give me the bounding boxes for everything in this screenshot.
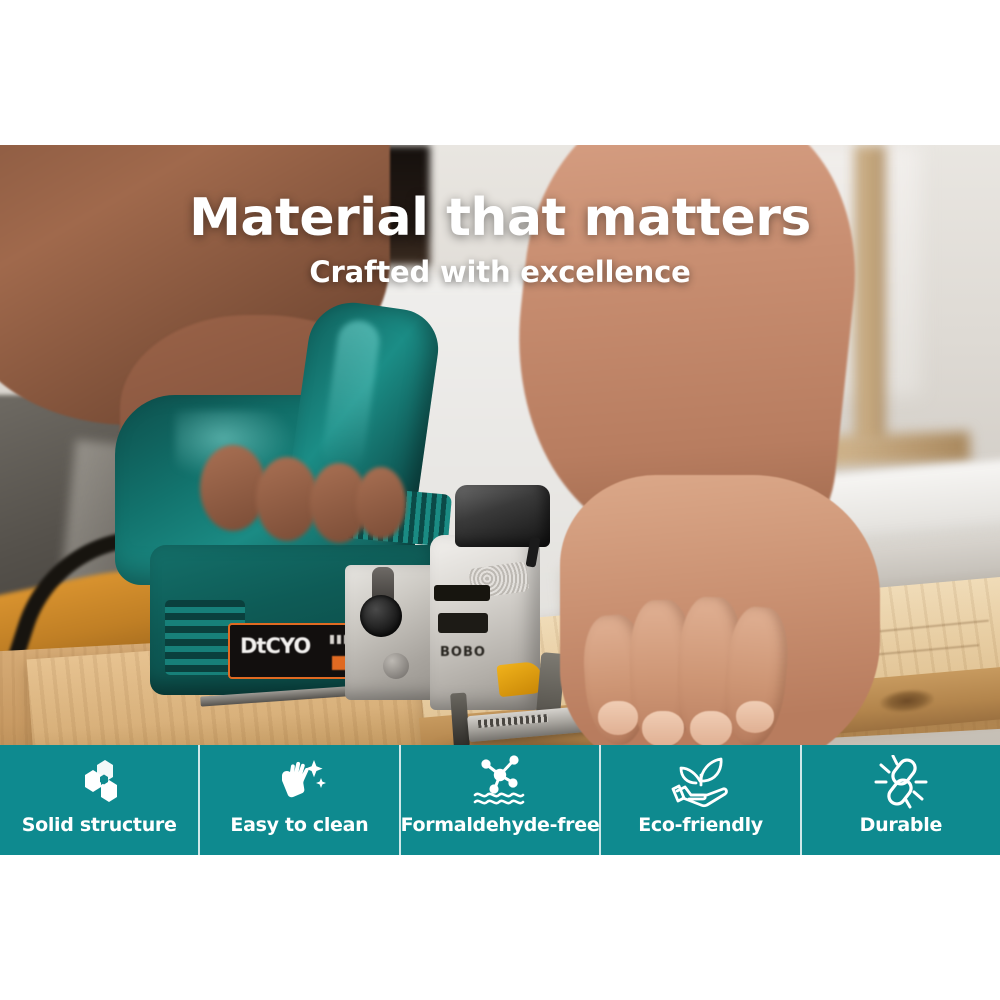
- feature-tile-durable[interactable]: Durable: [800, 745, 1000, 855]
- feature-tile-formaldehyde-free[interactable]: Formaldehyde-free: [399, 745, 600, 855]
- feature-label: Solid structure: [22, 814, 177, 836]
- feature-label: Durable: [860, 814, 942, 836]
- feature-tile-easy-to-clean[interactable]: Easy to clean: [198, 745, 398, 855]
- feature-label: Eco-friendly: [638, 814, 763, 836]
- hero-subheadline: Crafted with excellence: [0, 255, 1000, 289]
- hand-leaf-icon: [601, 754, 799, 810]
- knuckle: [256, 457, 318, 541]
- product-banner: DtCYO BOBO Mat: [0, 0, 1000, 1000]
- jigsaw-marking: BOBO: [440, 645, 488, 659]
- knuckle: [356, 467, 406, 539]
- feature-label: Formaldehyde-free: [401, 814, 600, 836]
- fingernail: [736, 701, 774, 733]
- jigsaw-slot: [438, 613, 488, 633]
- jigsaw-brand-text: DtCYO: [240, 634, 310, 658]
- fingernail: [690, 711, 732, 745]
- molecule-waves-icon: [401, 754, 600, 810]
- fingernail: [598, 701, 638, 735]
- background-wood-post: [855, 145, 885, 445]
- jigsaw-blade-guard: [496, 661, 543, 697]
- jigsaw-dial: [360, 595, 402, 637]
- feature-tile-eco-friendly[interactable]: Eco-friendly: [599, 745, 799, 855]
- jigsaw-knob: [383, 653, 409, 679]
- feature-label: Easy to clean: [230, 814, 368, 836]
- hero-headline: Material that matters: [0, 192, 1000, 244]
- feature-bar: Solid structure Easy to clean: [0, 745, 1000, 855]
- jigsaw-slot: [434, 585, 490, 601]
- fingernail: [642, 711, 684, 745]
- hexagons-icon: [0, 754, 198, 810]
- feature-tile-solid-structure[interactable]: Solid structure: [0, 745, 198, 855]
- chain-link-burst-icon: [802, 754, 1000, 810]
- hand-wipe-sparkle-icon: [200, 754, 398, 810]
